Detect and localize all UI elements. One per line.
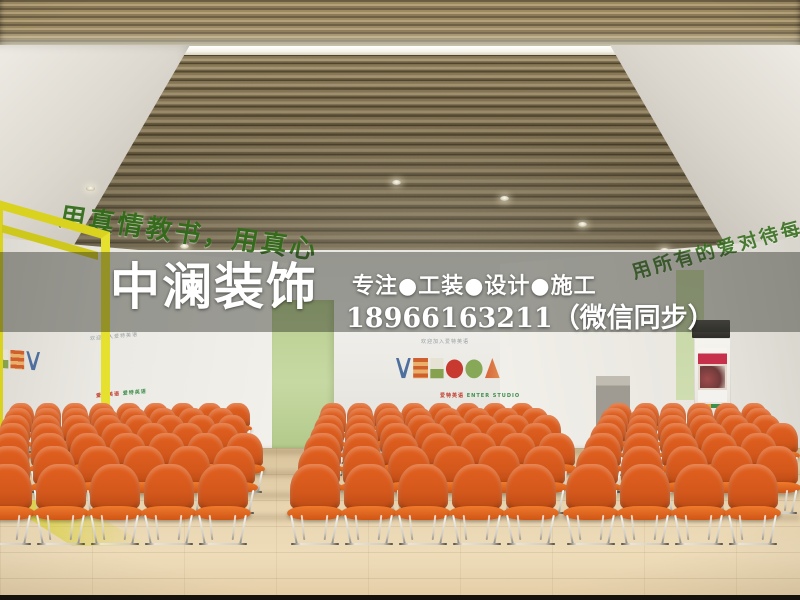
welcome-badge-center-left: 爱特英语: [440, 393, 464, 399]
chair-backrest: [36, 464, 86, 511]
welcome-letter-m-icon: [485, 358, 500, 378]
welcome-caption-center: 欢迎加入爱特英语: [421, 338, 469, 345]
auditorium-chair: [144, 464, 194, 545]
auditorium-chair: [0, 464, 32, 545]
chair-backrest: [506, 464, 556, 511]
welcome-badge-center: 爱特英语 ENTER STUDIO: [440, 392, 520, 399]
chair-legs: [566, 515, 616, 544]
chair-legs: [506, 515, 556, 544]
auditorium-chair: [506, 464, 556, 545]
auditorium-chair: [344, 464, 394, 545]
auditorium-chair: [566, 464, 616, 545]
auditorium-chair: [728, 464, 778, 545]
auditorium-chair: [620, 464, 670, 545]
auditorium-chair: [452, 464, 502, 545]
welcome-letter-c-icon: [446, 360, 463, 379]
watermark-brand-text: 中澜装饰: [110, 262, 318, 312]
downlight-icon: [500, 196, 509, 201]
chair-backrest: [198, 464, 248, 511]
welcome-badge-center-right: ENTER STUDIO: [467, 393, 520, 399]
watermark-phone-text: 18966163211（微信同步）: [346, 296, 715, 335]
welcome-letter-o-icon: [465, 360, 482, 379]
downlight-icon: [86, 186, 95, 191]
welcome-letter-l-icon: [430, 358, 443, 378]
chair-backrest: [620, 464, 670, 511]
chair-backrest: [674, 464, 724, 511]
chair-legs: [728, 515, 778, 544]
chair-backrest: [90, 464, 140, 511]
chair-backrest: [344, 464, 394, 511]
auditorium-chair: [674, 464, 724, 545]
welcome-letter-w-icon: [396, 358, 411, 378]
downlight-icon: [578, 222, 587, 227]
chair-legs: [144, 515, 194, 544]
auditorium-chair: [90, 464, 140, 545]
poster-photo: [700, 366, 725, 388]
chair-backrest: [0, 464, 32, 511]
chair-legs: [344, 515, 394, 544]
chair-legs: [0, 515, 32, 544]
auditorium-chair: [198, 464, 248, 545]
chair-backrest: [290, 464, 340, 511]
chair-legs: [452, 515, 502, 544]
auditorium-chair: [290, 464, 340, 545]
auditorium-chair: [398, 464, 448, 545]
interior-rendering-image: 用真情教书，用真心 用所有的爱对待每一 欢迎加入爱特英语 爱特英语 ENTER …: [0, 0, 800, 600]
chair-backrest: [144, 464, 194, 511]
chair-backrest: [398, 464, 448, 511]
chair-backrest: [566, 464, 616, 511]
chair-legs: [620, 515, 670, 544]
chair-legs: [290, 515, 340, 544]
ceiling-upper-slat-band: [0, 0, 800, 46]
downlight-icon: [392, 180, 401, 185]
chair-backrest: [452, 464, 502, 511]
welcome-letters-center: [396, 358, 500, 378]
auditorium-chair: [36, 464, 86, 545]
chair-legs: [674, 515, 724, 544]
chair-legs: [198, 515, 248, 544]
chair-legs: [36, 515, 86, 544]
chair-legs: [398, 515, 448, 544]
chair-legs: [90, 515, 140, 544]
chair-backrest: [728, 464, 778, 511]
welcome-letter-e-icon: [413, 358, 428, 378]
